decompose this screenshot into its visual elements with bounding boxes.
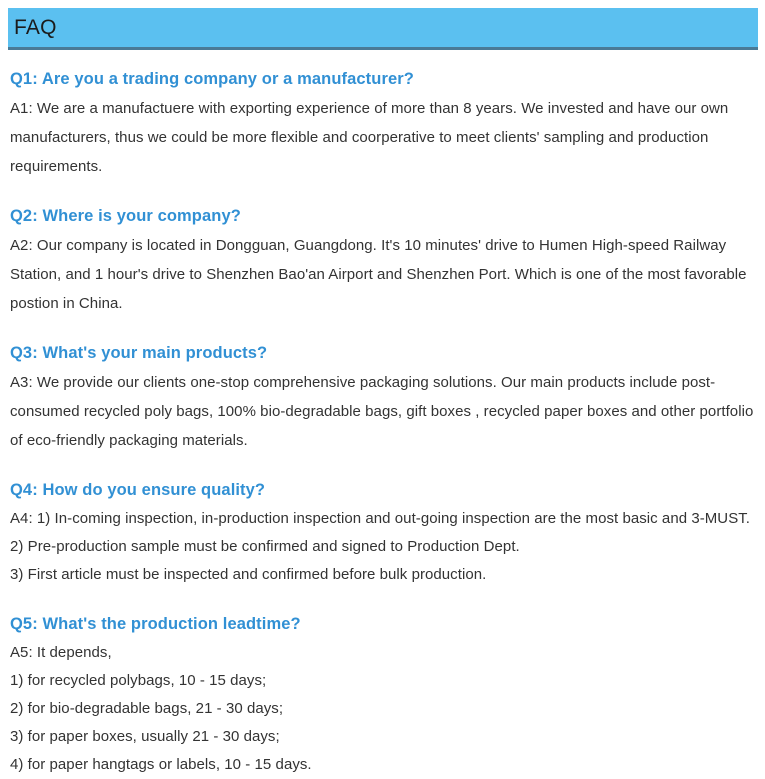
- faq-item-q5: Q5: What's the production leadtime? A5: …: [10, 611, 755, 779]
- faq-answer-line: A4: 1) In-coming inspection, in-producti…: [10, 505, 755, 533]
- faq-item-q3: Q3: What's your main products? A3: We pr…: [10, 340, 755, 455]
- faq-question-q1: Q1: Are you a trading company or a manuf…: [10, 66, 755, 92]
- faq-item-q4: Q4: How do you ensure quality? A4: 1) In…: [10, 477, 755, 589]
- faq-answer-q5: A5: It depends, 1) for recycled polybags…: [10, 639, 755, 779]
- faq-answer-line: A2: Our company is located in Dongguan, …: [10, 231, 755, 318]
- faq-content: Q1: Are you a trading company or a manuf…: [10, 66, 755, 779]
- faq-answer-line: 4) for paper hangtags or labels, 10 - 15…: [10, 751, 755, 779]
- faq-item-q2: Q2: Where is your company? A2: Our compa…: [10, 203, 755, 318]
- faq-answer-line: A3: We provide our clients one-stop comp…: [10, 368, 755, 455]
- faq-question-q5: Q5: What's the production leadtime?: [10, 611, 755, 637]
- faq-answer-line: 2) for bio-degradable bags, 21 - 30 days…: [10, 695, 755, 723]
- faq-answer-line: 3) First article must be inspected and c…: [10, 561, 755, 589]
- faq-item-q1: Q1: Are you a trading company or a manuf…: [10, 66, 755, 181]
- faq-answer-line: 3) for paper boxes, usually 21 - 30 days…: [10, 723, 755, 751]
- faq-answer-q3: A3: We provide our clients one-stop comp…: [10, 368, 755, 455]
- faq-answer-line: A5: It depends,: [10, 639, 755, 667]
- faq-answer-q2: A2: Our company is located in Dongguan, …: [10, 231, 755, 318]
- faq-answer-q4: A4: 1) In-coming inspection, in-producti…: [10, 505, 755, 589]
- faq-answer-line: A1: We are a manufactuere with exporting…: [10, 94, 755, 181]
- faq-banner: FAQ: [8, 8, 758, 50]
- faq-banner-title: FAQ: [8, 17, 57, 38]
- faq-question-q3: Q3: What's your main products?: [10, 340, 755, 366]
- faq-page: FAQ Q1: Are you a trading company or a m…: [0, 0, 765, 748]
- faq-answer-line: 2) Pre-production sample must be confirm…: [10, 533, 755, 561]
- faq-question-q4: Q4: How do you ensure quality?: [10, 477, 755, 503]
- faq-answer-line: 1) for recycled polybags, 10 - 15 days;: [10, 667, 755, 695]
- faq-question-q2: Q2: Where is your company?: [10, 203, 755, 229]
- faq-answer-q1: A1: We are a manufactuere with exporting…: [10, 94, 755, 181]
